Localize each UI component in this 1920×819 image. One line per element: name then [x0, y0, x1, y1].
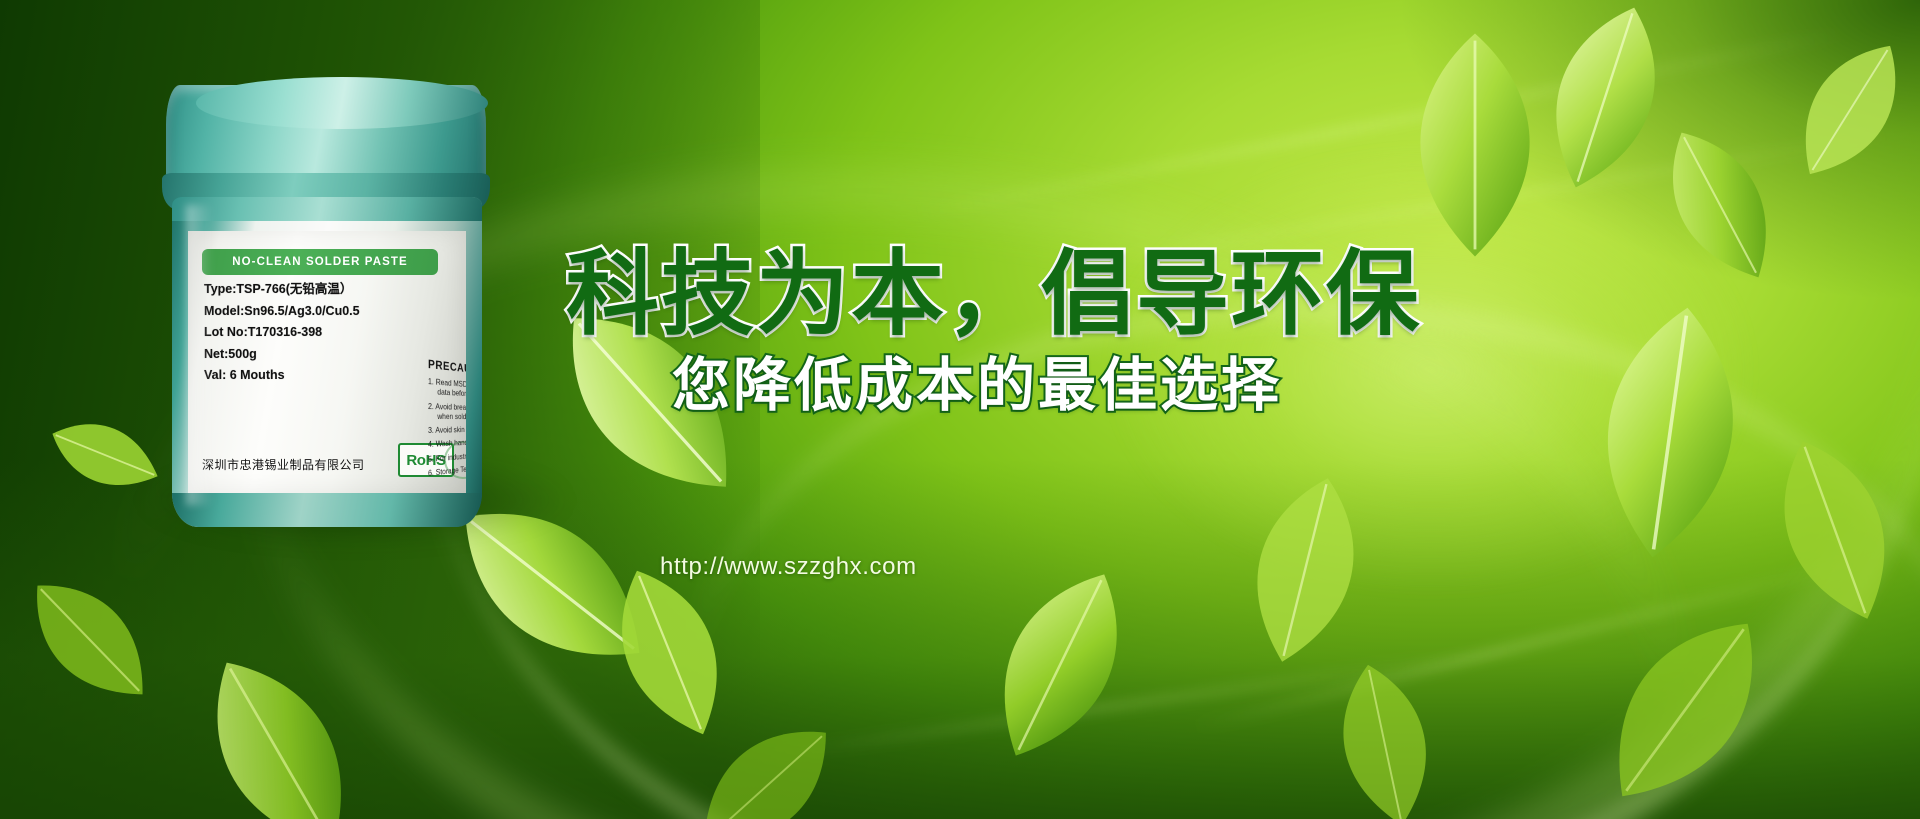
precautions-item-text: Storage Temp 0-10 — [436, 463, 466, 477]
jar-body: NO-CLEAN SOLDER PASTE Type:TSP-766(无铅高温）… — [172, 197, 482, 527]
label-company-name: 深圳市忠港锡业制品有限公司 — [202, 456, 412, 473]
promo-banner: NO-CLEAN SOLDER PASTE Type:TSP-766(无铅高温）… — [0, 0, 1920, 819]
product-label: NO-CLEAN SOLDER PASTE Type:TSP-766(无铅高温）… — [188, 231, 466, 493]
label-banner-text: NO-CLEAN SOLDER PASTE — [232, 256, 408, 268]
label-banner: NO-CLEAN SOLDER PASTE — [202, 249, 438, 275]
precautions-item-num: 4. — [428, 440, 434, 449]
label-line-model: Model:Sn96.5/Ag3.0/Cu0.5 — [204, 305, 454, 318]
precautions-item-cont: when soldering — [428, 412, 466, 422]
label-spec-list: Type:TSP-766(无铅高温） Model:Sn96.5/Ag3.0/Cu… — [204, 283, 454, 391]
precautions-item-text: For industrial use — [436, 451, 466, 463]
label-line-lot: Lot No:T170316-398 — [204, 326, 454, 339]
solder-paste-jar-icon: NO-CLEAN SOLDER PASTE Type:TSP-766(无铅高温）… — [150, 85, 550, 505]
jar-body-bottom-band — [172, 493, 482, 527]
precautions-item-num: 5. — [428, 454, 434, 463]
banner-headline: 科技为本，倡导环保 — [566, 218, 1421, 353]
jar-lid-top — [196, 77, 488, 129]
precautions-item-text: Avoid skin contact — [435, 425, 466, 434]
precautions-item-text: Wash hands after — [436, 438, 466, 449]
precautions-item-num: 3. — [428, 426, 434, 435]
precautions-block: PRECAUTIONS 1. Read MSDS and data before… — [428, 357, 466, 483]
label-line-net: Net:500g — [204, 348, 454, 361]
precautions-item-num: 2. — [428, 402, 434, 411]
precautions-item: 2. Avoid breathing when soldering — [428, 402, 466, 423]
banner-subtitle: 您降低成本的最佳选择 — [672, 338, 1282, 422]
label-line-val: Val: 6 Mouths — [204, 369, 454, 382]
precautions-item: 5. For industrial use — [428, 448, 466, 465]
precautions-item-num: 6. — [428, 468, 434, 478]
jar-body-top-band — [172, 197, 482, 221]
precautions-item-num: 1. — [428, 377, 434, 386]
precautions-item-cont: data before use — [428, 387, 466, 401]
banner-url: http://www.szzghx.com — [660, 553, 1260, 581]
precautions-item: 1. Read MSDS and data before use — [428, 377, 466, 402]
precautions-item: 4. Wash hands after — [428, 436, 466, 450]
precautions-item-text: Avoid breathing — [435, 402, 466, 412]
leaf-icon — [1553, 287, 1788, 577]
label-line-type: Type:TSP-766(无铅高温） — [204, 283, 454, 296]
precautions-item: 3. Avoid skin contact — [428, 425, 466, 436]
jar-gloss-highlight — [186, 205, 212, 505]
